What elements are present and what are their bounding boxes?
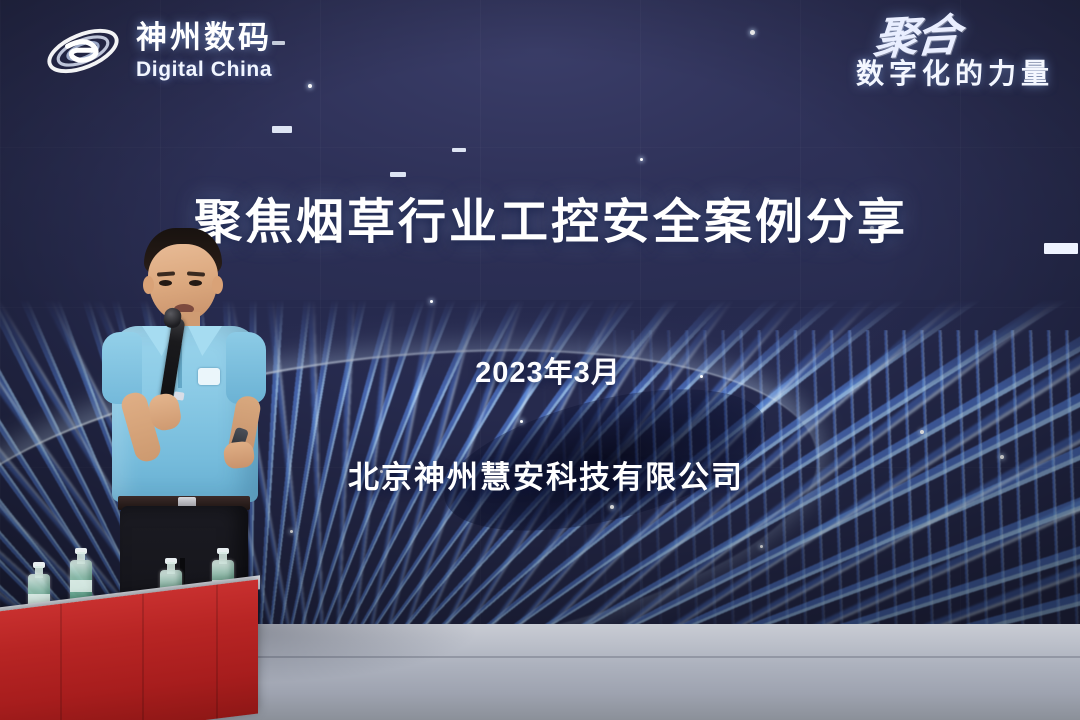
light-dash-particle bbox=[390, 172, 406, 177]
sparkle-particle bbox=[308, 84, 312, 88]
brand-name-chinese: 神州数码 bbox=[136, 22, 272, 53]
brand-text-block: 神州数码 Digital China bbox=[136, 22, 272, 80]
screen-edge-light-bar bbox=[1044, 243, 1078, 254]
slogan-calligraphy: 聚合 bbox=[872, 16, 960, 60]
table-drape-fold bbox=[60, 604, 62, 720]
table-drape-fold bbox=[216, 584, 218, 718]
bottle-label bbox=[70, 580, 92, 592]
brand-name-english: Digital China bbox=[136, 59, 272, 80]
table-drape-fold bbox=[142, 594, 144, 720]
speaker-ear-left bbox=[143, 276, 154, 294]
light-dash-particle bbox=[272, 41, 285, 45]
speaker-eye-right bbox=[189, 280, 202, 286]
sparkle-particle bbox=[610, 505, 614, 509]
digital-china-swirl-logo-icon bbox=[44, 20, 122, 82]
conference-stage-photo: 神州数码 Digital China 聚合 数字化的力量 聚焦烟草行业工控安全案… bbox=[0, 0, 1080, 720]
event-slogan-lockup: 聚合 数字化的力量 bbox=[856, 18, 1054, 92]
speaker-chest-logo bbox=[198, 368, 220, 385]
light-dash-particle bbox=[452, 148, 466, 152]
speaker-eye-left bbox=[159, 280, 172, 286]
sparkle-particle bbox=[750, 30, 755, 35]
sparkle-particle bbox=[640, 158, 643, 161]
speaker-person bbox=[92, 228, 292, 628]
sparkle-particle bbox=[520, 420, 523, 423]
speaker-sleeve-right bbox=[226, 332, 266, 404]
sparkle-particle bbox=[430, 300, 433, 303]
sparkle-particle bbox=[920, 430, 924, 434]
digital-china-brand-lockup: 神州数码 Digital China bbox=[44, 20, 272, 82]
light-dash-particle bbox=[272, 126, 292, 133]
sparkle-particle bbox=[760, 545, 763, 548]
speaker-ear-right bbox=[212, 276, 223, 294]
